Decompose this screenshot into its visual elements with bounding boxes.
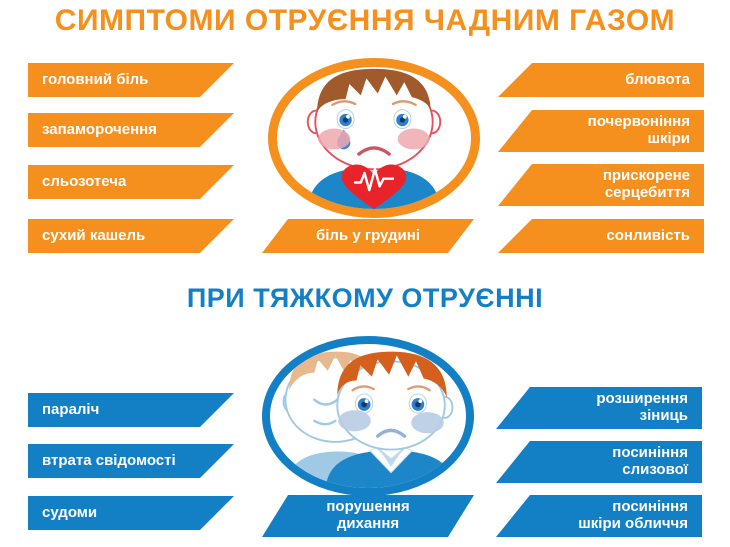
symptom-banner-chest-pain: біль у грудині xyxy=(262,219,474,253)
front-boy-eye-glint-right xyxy=(418,399,422,403)
symptom-banner-vomiting: блювота xyxy=(498,63,704,97)
symptom-label: параліч xyxy=(42,402,188,419)
infographic-root: СИМПТОМИ ОТРУЄННЯ ЧАДНИМ ГАЗОМ головний … xyxy=(0,0,730,547)
symptom-label: порушення дихання xyxy=(296,499,440,533)
two-boys-portrait xyxy=(262,336,474,496)
symptom-label: посиніння шкіри обличчя xyxy=(542,499,688,533)
eye-glint-left xyxy=(346,115,350,119)
section-title-severe: ПРИ ТЯЖКОМУ ОТРУЄННІ xyxy=(0,283,730,314)
symptom-label: почервоніння шкіри xyxy=(544,114,690,148)
severe-banner-paralysis: параліч xyxy=(28,393,234,427)
symptom-banner-drowsiness: сонливість xyxy=(498,219,704,253)
symptom-label: біль у грудині xyxy=(296,228,440,245)
eye-glint-right xyxy=(403,115,407,119)
symptom-label: запаморочення xyxy=(42,122,188,139)
page-title: СИМПТОМИ ОТРУЄННЯ ЧАДНИМ ГАЗОМ xyxy=(0,4,730,38)
symptom-label: прискорене серцебиття xyxy=(544,168,690,202)
symptom-label: розширення зіниць xyxy=(542,391,688,425)
symptom-banner-lacrimation: сльозотеча xyxy=(28,165,234,199)
symptom-label: сльозотеча xyxy=(42,174,188,191)
symptom-label: головний біль xyxy=(42,72,188,89)
symptom-banner-dizziness: запаморочення xyxy=(28,113,234,147)
severe-banner-loss-of-consciousness: втрата свідомості xyxy=(28,444,234,478)
severe-banner-breathing-disorder: порушення дихання xyxy=(262,495,474,537)
front-boy-eye-glint-left xyxy=(365,399,369,403)
symptom-banner-tachycardia: прискорене серцебиття xyxy=(498,164,704,206)
severe-banner-dilated-pupils: розширення зіниць xyxy=(496,387,702,429)
symptom-banner-skin-redness: почервоніння шкіри xyxy=(498,110,704,152)
symptom-label: судоми xyxy=(42,505,188,522)
cheek-left xyxy=(318,129,350,150)
front-boy-cheek-left xyxy=(338,410,371,431)
symptom-label: втрата свідомості xyxy=(42,453,188,470)
symptom-banner-dry-cough: сухий кашель xyxy=(28,219,234,253)
front-boy-cheek-right xyxy=(411,412,444,433)
symptom-banner-headache: головний біль xyxy=(28,63,234,97)
symptom-label: блювота xyxy=(544,72,690,89)
severe-banner-face-cyanosis: посиніння шкіри обличчя xyxy=(496,495,702,537)
cheek-right xyxy=(398,129,430,150)
symptom-label: сонливість xyxy=(544,228,690,245)
sad-boy-portrait xyxy=(268,58,480,218)
symptom-label: сухий кашель xyxy=(42,228,188,245)
severe-banner-convulsions: судоми xyxy=(28,496,234,530)
symptom-label: посиніння слизової xyxy=(542,445,688,479)
severe-banner-mucosa-cyanosis: посиніння слизової xyxy=(496,441,702,483)
